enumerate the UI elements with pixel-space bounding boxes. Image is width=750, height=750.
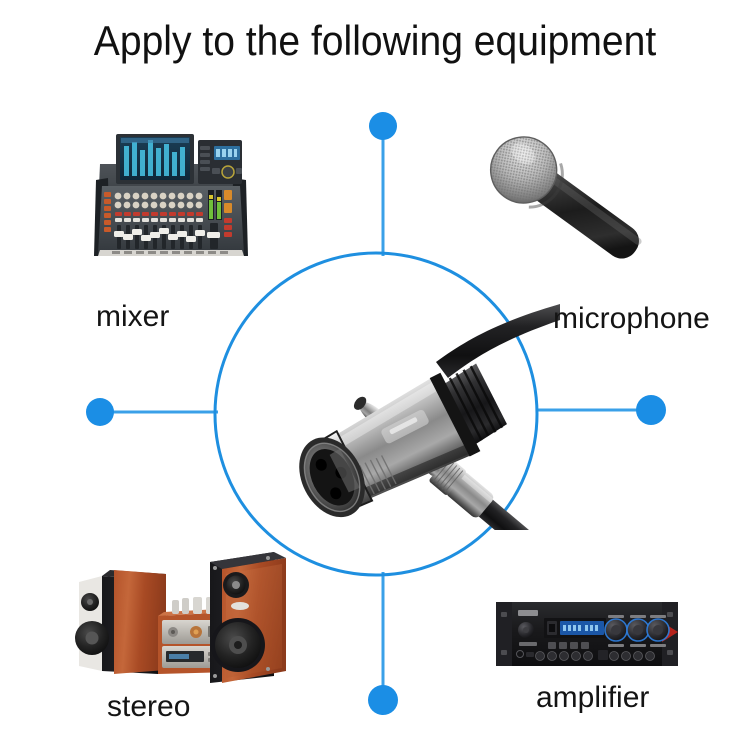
connector-dot-right bbox=[636, 395, 666, 425]
dynamic-microphone-photo bbox=[488, 118, 658, 263]
label-microphone: microphone bbox=[553, 302, 710, 336]
infographic-canvas: Apply to the following equipment bbox=[0, 0, 750, 750]
xlr-to-quarter-inch-cable-product-photo bbox=[230, 300, 560, 530]
mixing-console-photo bbox=[88, 128, 253, 273]
connector-dot-left bbox=[86, 398, 114, 426]
rack-amplifier-photo bbox=[492, 592, 682, 680]
connector-dot-top bbox=[369, 112, 397, 140]
label-mixer: mixer bbox=[96, 300, 169, 334]
bookshelf-speakers-photo bbox=[62, 540, 297, 692]
label-stereo: stereo bbox=[107, 690, 190, 724]
product-cable bbox=[436, 304, 560, 378]
label-amplifier: amplifier bbox=[536, 681, 649, 715]
connector-dot-bottom bbox=[368, 685, 398, 715]
